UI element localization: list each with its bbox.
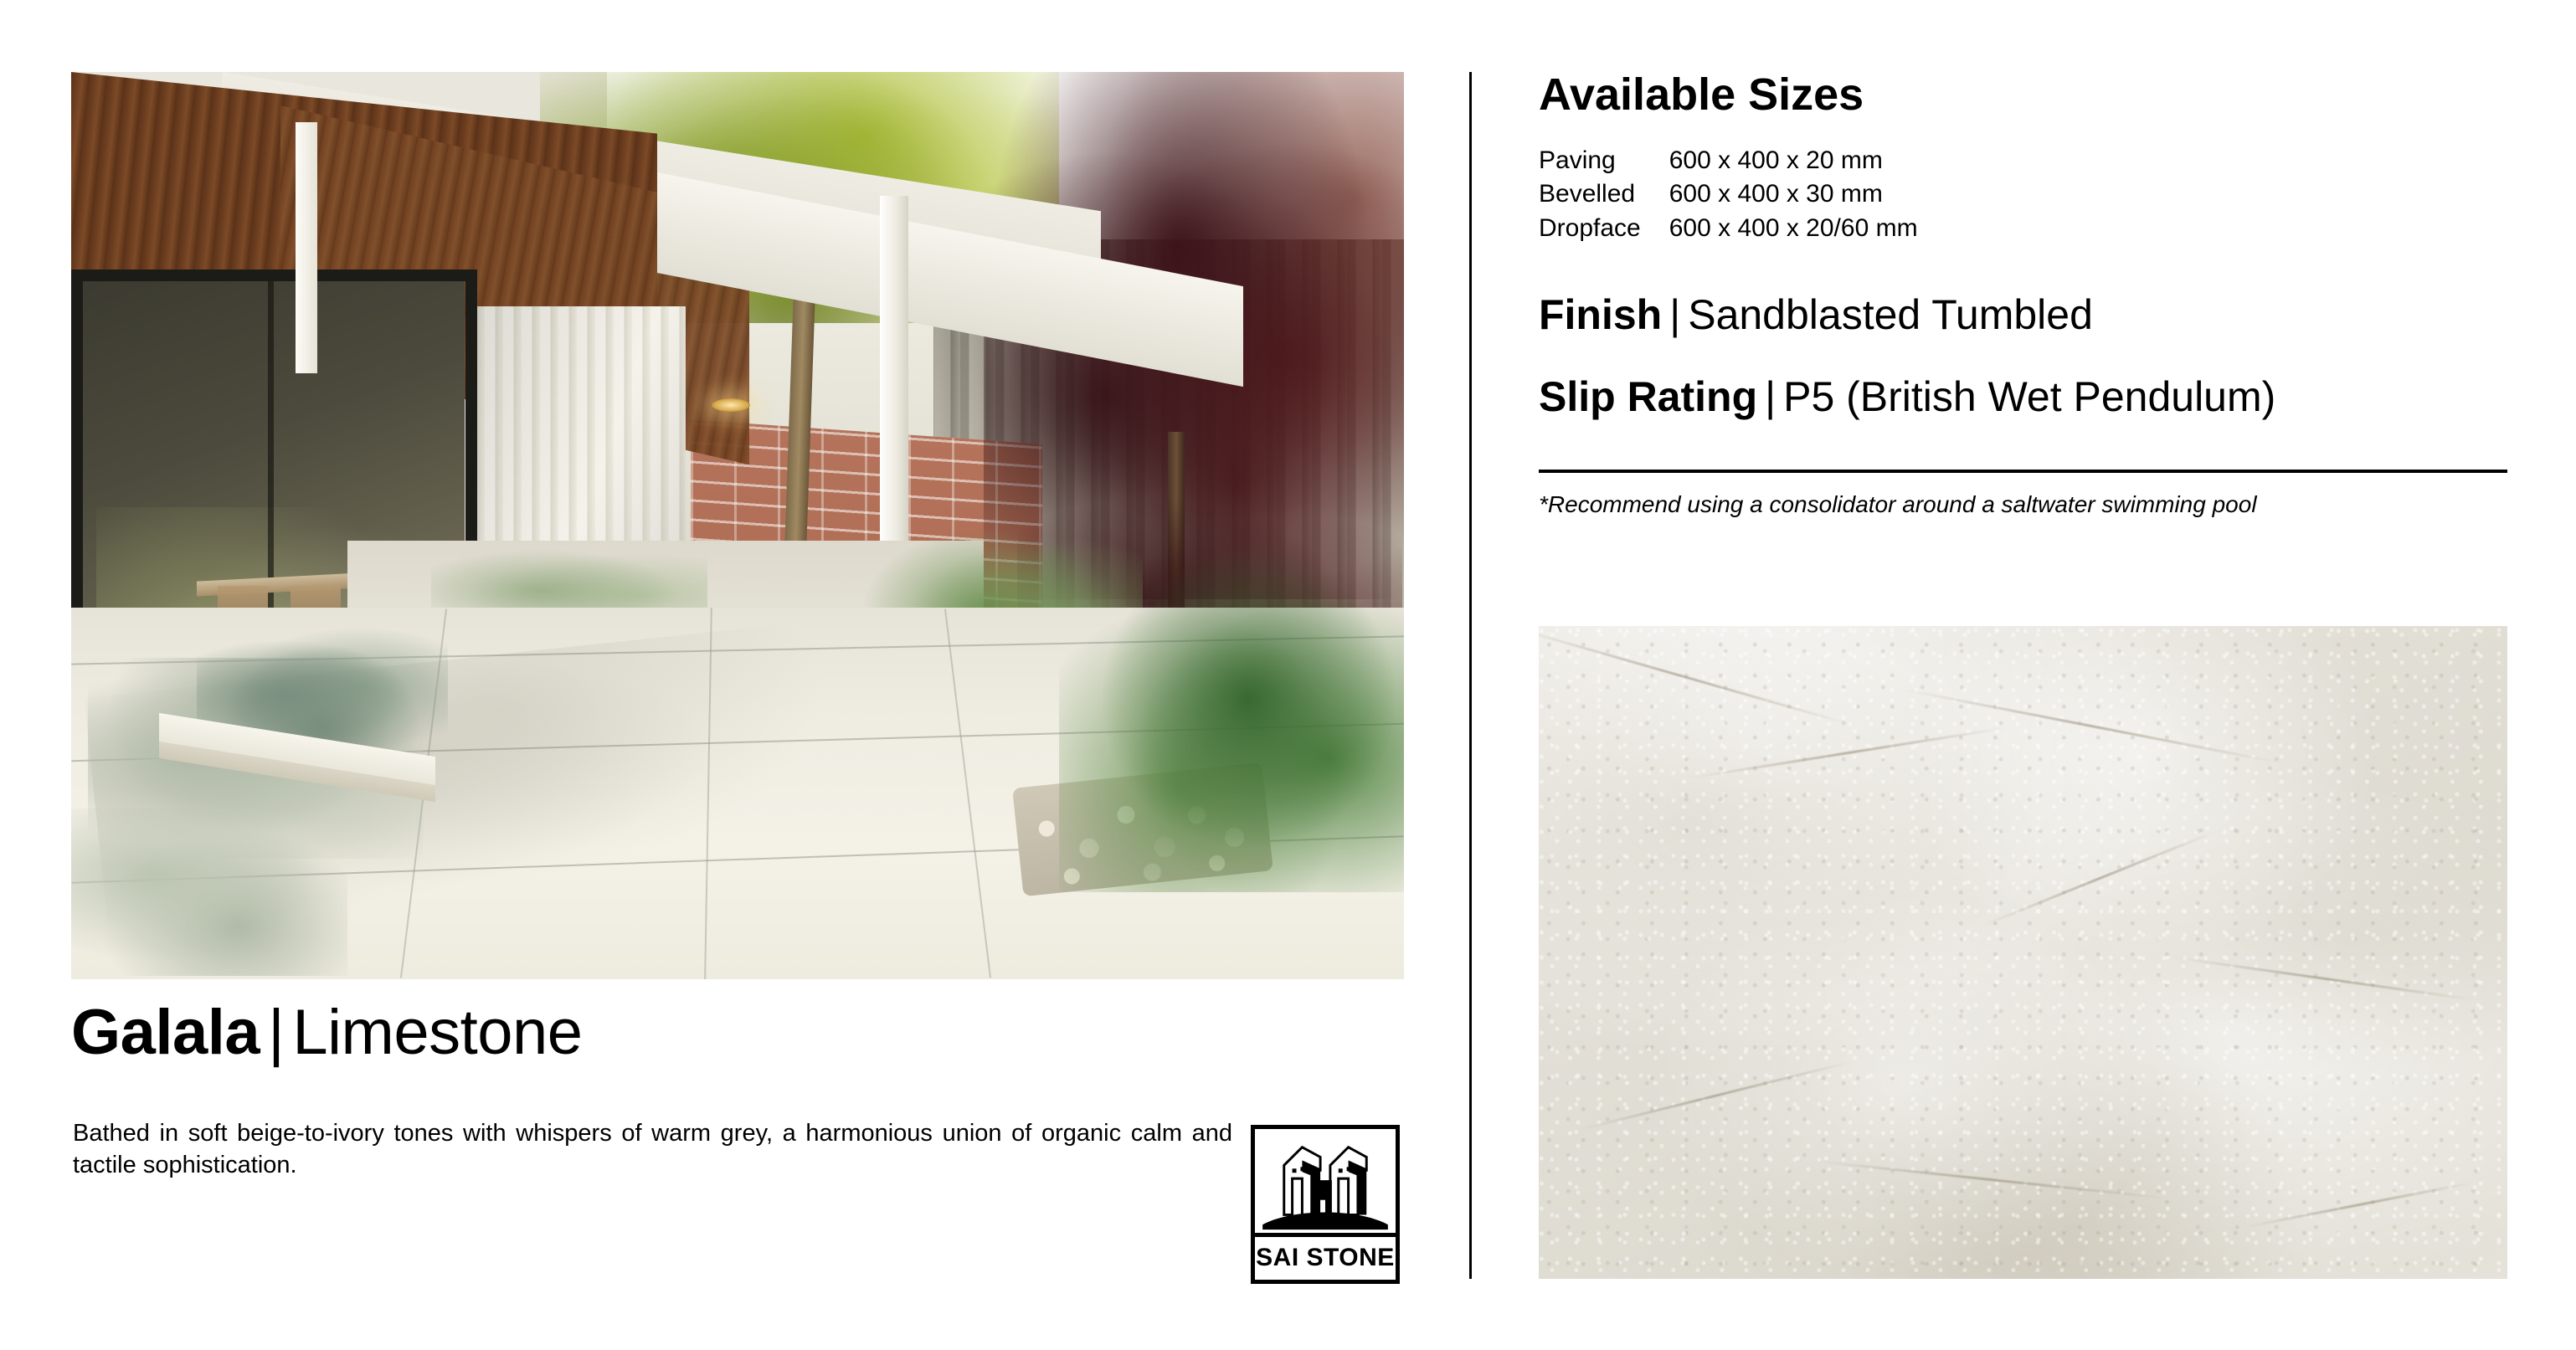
stone-pillars-icon xyxy=(1255,1129,1396,1233)
slip-rating-label: Slip Rating xyxy=(1539,373,1757,420)
product-spec-sheet: Galala|Limestone Bathed in soft beige-to… xyxy=(0,0,2576,1350)
title-separator: | xyxy=(260,997,292,1068)
available-sizes-table: Paving 600 x 400 x 20 mm Bevelled 600 x … xyxy=(1539,146,1918,247)
size-label: Bevelled xyxy=(1539,179,1669,213)
swatch-grain xyxy=(1539,626,2507,1279)
size-value: 600 x 400 x 20 mm xyxy=(1669,146,1918,179)
table-row: Dropface 600 x 400 x 20/60 mm xyxy=(1539,213,1918,247)
available-sizes-heading: Available Sizes xyxy=(1539,72,2507,117)
size-label: Paving xyxy=(1539,146,1669,179)
hero-photo xyxy=(71,72,1404,979)
finish-separator: | xyxy=(1662,291,1688,338)
column-divider xyxy=(1469,72,1472,1279)
slip-rating-separator: | xyxy=(1757,373,1783,420)
title-block: Galala|Limestone Bathed in soft beige-to… xyxy=(71,1001,1404,1277)
product-name: Galala xyxy=(71,997,260,1068)
size-value: 600 x 400 x 30 mm xyxy=(1669,179,1918,213)
left-column: Galala|Limestone Bathed in soft beige-to… xyxy=(71,72,1404,1277)
finish-value: Sandblasted Tumbled xyxy=(1688,291,2093,338)
size-label: Dropface xyxy=(1539,213,1669,247)
table-row: Paving 600 x 400 x 20 mm xyxy=(1539,146,1918,179)
slip-rating-spec: Slip Rating|P5 (British Wet Pendulum) xyxy=(1539,376,2507,418)
photo-column-secondary xyxy=(296,122,317,373)
sai-stone-logo: SAI STONE xyxy=(1251,1125,1400,1284)
slip-rating-value: P5 (British Wet Pendulum) xyxy=(1783,373,2275,420)
product-material: Limestone xyxy=(292,997,582,1068)
page-title: Galala|Limestone xyxy=(71,1001,583,1065)
photo-strappy-planting xyxy=(1059,541,1404,892)
product-description: Bathed in soft beige-to-ivory tones with… xyxy=(73,1117,1232,1182)
logo-wordmark: SAI STONE xyxy=(1255,1237,1396,1280)
table-row: Bevelled 600 x 400 x 30 mm xyxy=(1539,179,1918,213)
photo-groundcover-foreground xyxy=(71,808,347,976)
photo-downlight xyxy=(712,398,750,412)
stone-texture-swatch xyxy=(1539,626,2507,1279)
recommendation-note: *Recommend using a consolidator around a… xyxy=(1539,491,2507,518)
finish-label: Finish xyxy=(1539,291,1662,338)
section-divider xyxy=(1539,470,2507,473)
size-value: 600 x 400 x 20/60 mm xyxy=(1669,213,1918,247)
finish-spec: Finish|Sandblasted Tumbled xyxy=(1539,294,2507,336)
right-column: Available Sizes Paving 600 x 400 x 20 mm… xyxy=(1539,72,2507,1279)
